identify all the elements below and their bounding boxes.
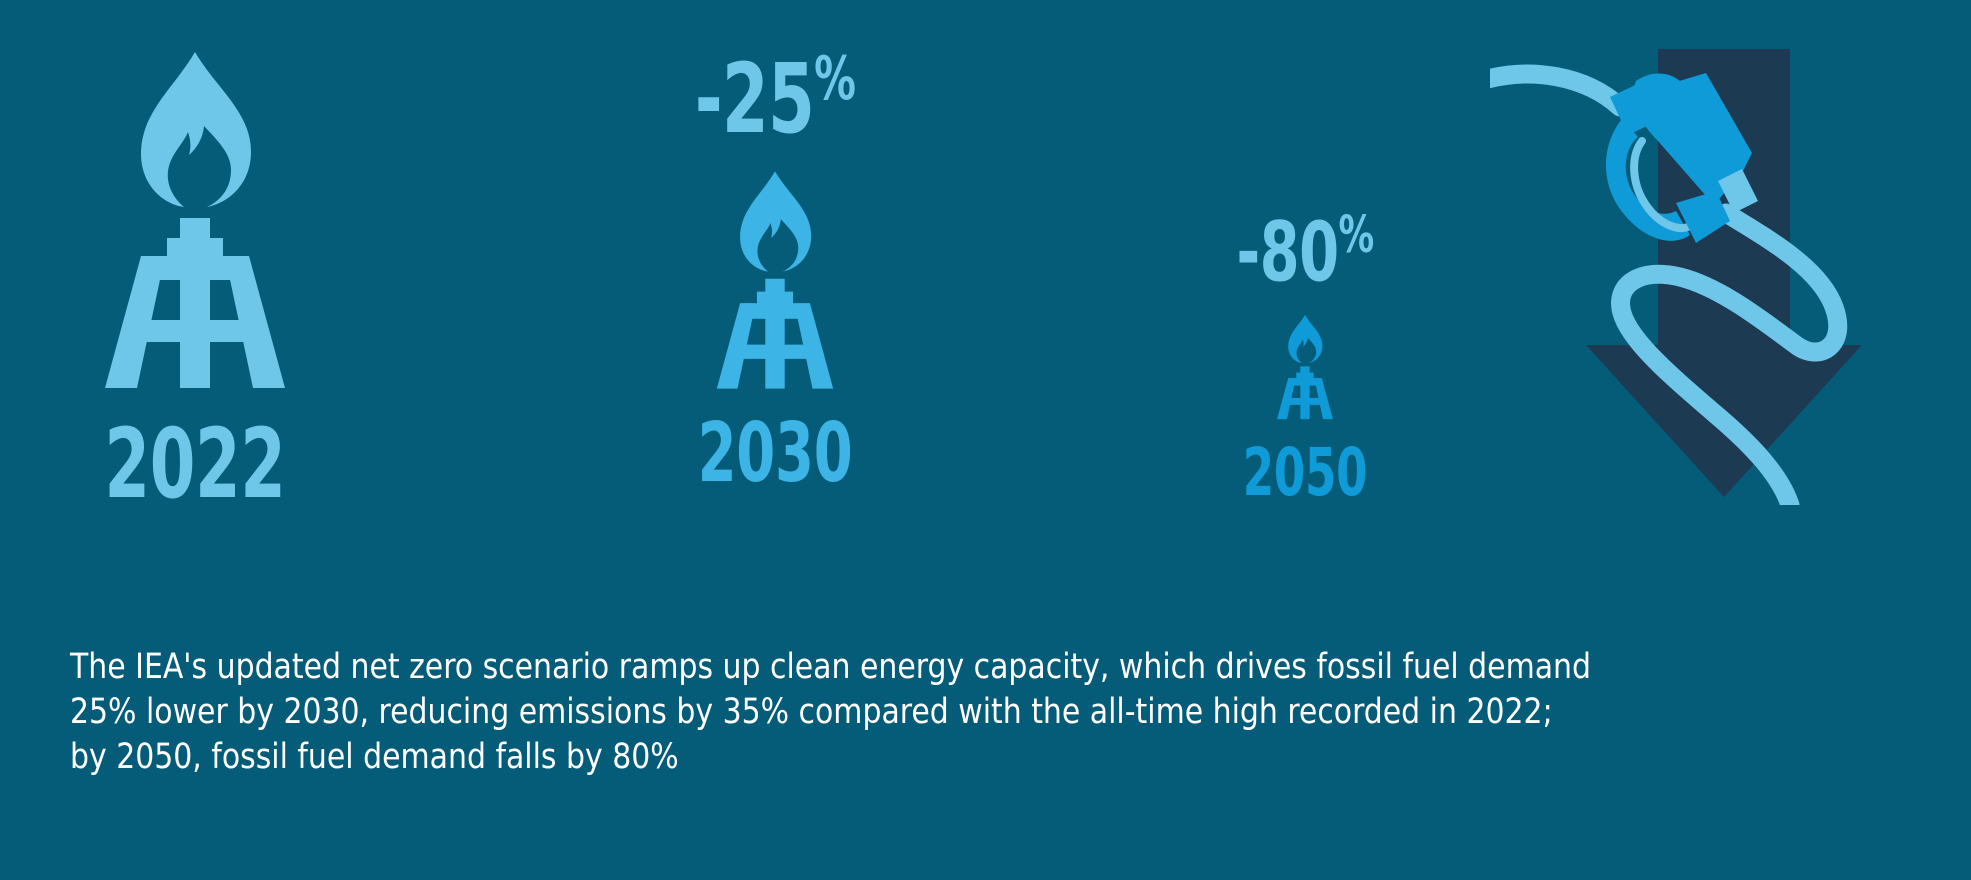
percent-label-2030: -25% — [654, 50, 896, 147]
rig-group-2022: 2022 — [40, 50, 350, 512]
gas-flare-derrick-icon-2030 — [700, 169, 850, 391]
percent-number-2030: -25 — [695, 43, 814, 155]
caption-line-1: The IEA's updated net zero scenario ramp… — [70, 645, 1818, 690]
gas-flare-derrick-icon-2050 — [1269, 314, 1341, 420]
year-label-2022: 2022 — [77, 416, 313, 512]
infographic-canvas: 2022 -25% 2030 -80% — [0, 0, 1971, 880]
year-label-2050: 2050 — [1187, 440, 1423, 506]
gas-flare-derrick-icon-2022 — [79, 50, 311, 390]
percent-number-2050: -80 — [1236, 205, 1338, 300]
caption-line-2: 25% lower by 2030, reducing emissions by… — [70, 690, 1818, 735]
fuel-demand-falling-illustration — [1490, 45, 1930, 505]
rig-group-2050: -80% 2050 — [1150, 50, 1460, 506]
percent-sign-2030: % — [814, 45, 855, 114]
year-label-2030: 2030 — [657, 413, 893, 495]
caption-block: The IEA's updated net zero scenario ramp… — [70, 645, 1910, 780]
fuel-hose-icon-top — [1490, 74, 1620, 107]
percent-sign-2050: % — [1338, 205, 1373, 264]
caption-line-3: by 2050, fossil fuel demand falls by 80% — [70, 735, 1818, 780]
rig-group-2030: -25% 2030 — [620, 50, 930, 495]
percent-label-2050: -80% — [1184, 210, 1426, 294]
